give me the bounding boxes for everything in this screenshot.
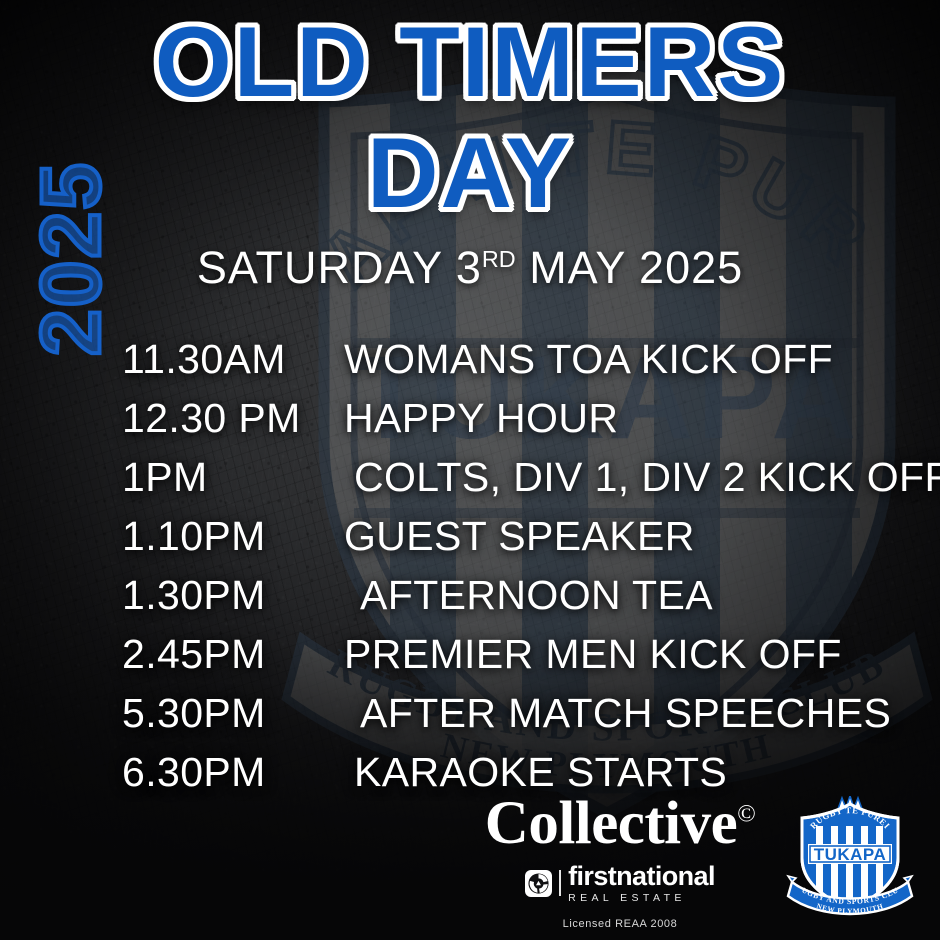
schedule-event: AFTER MATCH SPEECHES: [344, 690, 932, 737]
schedule-event: COLTS, DIV 1, DIV 2 KICK OFF: [344, 454, 940, 501]
schedule-row: 12.30 PM HAPPY HOUR: [122, 395, 932, 454]
schedule-event: AFTERNOON TEA: [344, 572, 932, 619]
schedule-time: 12.30 PM: [122, 395, 344, 442]
schedule-row: 1.30PM AFTERNOON TEA: [122, 572, 932, 631]
first-national-tagline: REAL ESTATE: [568, 893, 715, 904]
schedule-row: 1PM COLTS, DIV 1, DIV 2 KICK OFF: [122, 454, 932, 513]
date-ordinal: RD: [482, 246, 516, 272]
date-prefix: SATURDAY 3: [197, 242, 482, 293]
schedule-event: PREMIER MEN KICK OFF: [344, 631, 932, 678]
headline-block: OLD TIMERS DAY: [0, 4, 940, 220]
schedule-event: KARAOKE STARTS: [344, 749, 932, 796]
tukapa-club-crest: RUGBY TE PUREI TUKAPA RUGBY AND SPORTS C…: [786, 796, 914, 922]
schedule-time: 6.30PM: [122, 749, 344, 796]
schedule-event: HAPPY HOUR: [344, 395, 932, 442]
schedule-time: 11.30AM: [122, 336, 344, 383]
schedule-time: 1.10PM: [122, 513, 344, 560]
schedule-time: 2.45PM: [122, 631, 344, 678]
first-national-logo: firstnational REAL ESTATE: [430, 863, 810, 904]
collective-logo: Collective©: [485, 793, 755, 854]
svg-text:TUKAPA: TUKAPA: [814, 845, 887, 864]
old-timers-day-poster: KAPAI TE PUREI TUKAPA RUGBY AND SPORTS C…: [0, 0, 940, 940]
schedule-row: 5.30PM AFTER MATCH SPEECHES: [122, 690, 932, 749]
first-national-swirl-icon: [525, 870, 552, 897]
schedule-time: 1PM: [122, 454, 344, 501]
licensed-disclaimer: Licensed REAA 2008: [430, 918, 810, 930]
first-national-name: firstnational: [568, 861, 715, 891]
schedule-list: 11.30AM WOMANS TOA KICK OFF 12.30 PM HAP…: [122, 336, 932, 808]
collective-wordmark: Collective: [485, 790, 737, 857]
schedule-row: 11.30AM WOMANS TOA KICK OFF: [122, 336, 932, 395]
date-suffix: MAY 2025: [516, 242, 743, 293]
logo-divider: [559, 870, 561, 896]
schedule-row: 2.45PM PREMIER MEN KICK OFF: [122, 631, 932, 690]
headline-line-2: DAY: [0, 125, 940, 220]
schedule-row: 1.10PM GUEST SPEAKER: [122, 513, 932, 572]
copyright-icon: ©: [737, 801, 755, 828]
schedule-time: 5.30PM: [122, 690, 344, 737]
event-date: SATURDAY 3RD MAY 2025: [0, 242, 940, 294]
schedule-event: WOMANS TOA KICK OFF: [344, 336, 932, 383]
schedule-time: 1.30PM: [122, 572, 344, 619]
first-national-wordmark: firstnational REAL ESTATE: [568, 863, 715, 904]
sponsor-block: Collective© firstnational REAL ESTATE Li…: [430, 793, 810, 930]
schedule-event: GUEST SPEAKER: [344, 513, 932, 560]
headline-line-1: OLD TIMERS: [0, 4, 940, 109]
